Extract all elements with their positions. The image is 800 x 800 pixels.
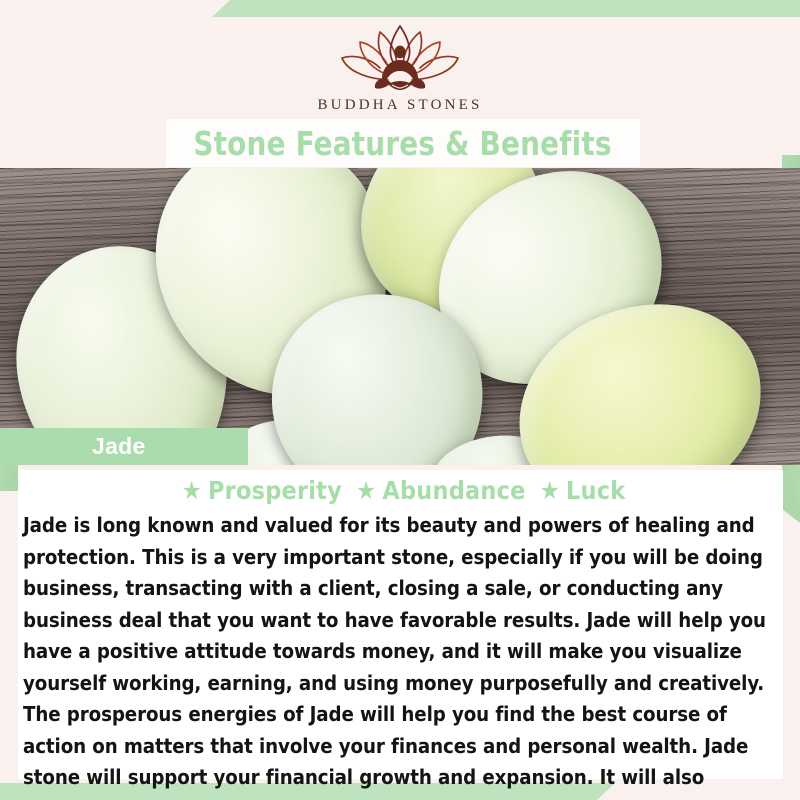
page-title-band: Stone Features & Benefits [166, 119, 640, 167]
keyword-list: ★Prosperity★Abundance★Luck [18, 470, 783, 508]
stone-name-band: Jade [0, 428, 248, 465]
brand-logo: BUDDHA STONES [0, 22, 800, 114]
stone-photo [0, 168, 800, 465]
description-panel: ★Prosperity★Abundance★Luck Jade is long … [18, 470, 783, 779]
keyword-abundance: Abundance [382, 476, 525, 505]
page-title: Stone Features & Benefits [194, 124, 612, 163]
lotus-meditation-icon [330, 22, 470, 92]
star-icon: ★ [540, 476, 560, 505]
keyword-luck: Luck [566, 476, 625, 505]
keyword-prosperity: Prosperity [208, 476, 342, 505]
brand-name: BUDDHA STONES [0, 97, 800, 114]
stone-name-label: Jade [92, 433, 146, 460]
star-icon: ★ [182, 476, 202, 505]
description-text: Jade is long known and valued for its be… [18, 508, 783, 800]
star-icon: ★ [356, 476, 376, 505]
infographic-page: BUDDHA STONES Stone Features & Benefits … [0, 0, 800, 800]
decorative-band-top-right [212, 0, 800, 17]
